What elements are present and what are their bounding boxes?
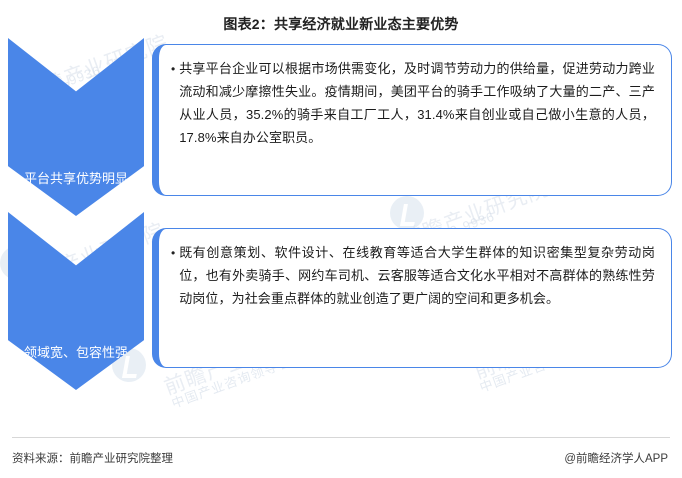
- source-note: 资料来源：前瞻产业研究院整理: [12, 450, 173, 466]
- page-title: 图表2：共享经济就业新业态主要优势: [0, 14, 682, 34]
- chevron-label-1: 平台共享优势明显: [8, 169, 144, 216]
- bullet-icon: •: [171, 57, 175, 183]
- content-box-2: • 既有创意策划、软件设计、在线教育等适合大学生群体的知识密集型复杂劳动岗位，也…: [152, 228, 672, 368]
- watermark-logo-icon: [390, 196, 424, 230]
- chevron-shape-1: 平台共享优势明显: [8, 38, 144, 216]
- chevron-shape-2: 领域宽、包容性强: [8, 212, 144, 390]
- infographic-page: 前瞻产业研究院 400-639-9936 前瞻产业研究院 中国产业咨询领导者 前…: [0, 0, 682, 478]
- footer-divider: [12, 437, 670, 438]
- content-text-1: 共享平台企业可以根据市场供需变化，及时调节劳动力的供给量，促进劳动力跨业流动和减…: [179, 57, 655, 183]
- chevron-label-2: 领域宽、包容性强: [8, 343, 144, 390]
- bullet-icon: •: [171, 241, 175, 355]
- attribution-note: @前瞻经济学人APP: [564, 450, 668, 466]
- content-box-1: • 共享平台企业可以根据市场供需变化，及时调节劳动力的供给量，促进劳动力跨业流动…: [152, 44, 672, 196]
- content-text-2: 既有创意策划、软件设计、在线教育等适合大学生群体的知识密集型复杂劳动岗位，也有外…: [179, 241, 655, 355]
